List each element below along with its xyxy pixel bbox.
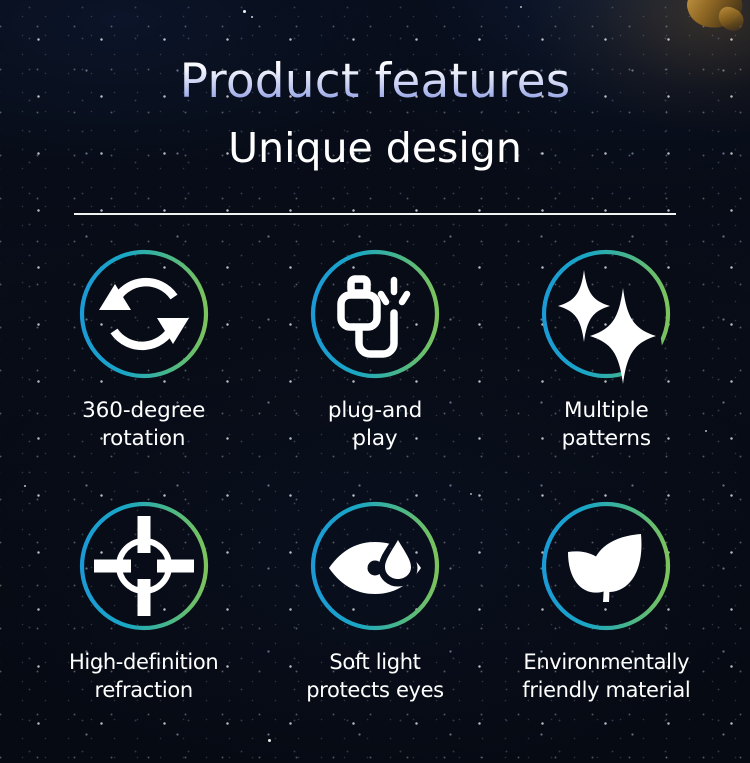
leaf-sprout-icon [540,500,672,632]
eye-teardrop-icon [309,500,441,632]
usb-plug-icon [309,248,441,380]
feature-label: Soft light protects eyes [306,649,444,704]
sparkle-stars-icon [540,248,672,380]
feature-label: Multiple patterns [562,397,651,454]
meteor-fleck-icon [683,0,748,35]
header-divider [74,213,676,215]
star-dot [243,10,246,13]
feature-item-soft-light[interactable]: Soft light protects eyes [259,500,490,752]
feature-icon-soft-light [309,500,441,632]
meteor-fleck-icon [715,4,747,34]
product-features-banner: Product features Unique design [0,0,750,763]
feature-item-multiple-patterns[interactable]: Multiple patterns [491,248,722,500]
rotate-360-icon [78,248,210,380]
feature-icon-eco-material [540,500,672,632]
feature-item-plug-and-play[interactable]: plug-and play [259,248,490,500]
star-dot [24,485,26,487]
feature-icon-multiple-patterns [540,248,672,380]
feature-icon-high-definition-refraction [78,500,210,632]
feature-label: Environmentally friendly material [522,649,690,704]
feature-icon-rotation [78,248,210,380]
feature-icon-plug-and-play [309,248,441,380]
feature-label: 360-degree rotation [82,397,205,454]
feature-item-rotation[interactable]: 360-degree rotation [28,248,259,500]
feature-label: plug-and play [328,397,422,454]
feature-label: High-definition refraction [69,649,218,704]
page-subtitle: Unique design [0,127,750,170]
feature-grid: 360-degree rotation [28,248,722,752]
feature-item-eco-material[interactable]: Environmentally friendly material [491,500,722,752]
feature-item-high-definition-refraction[interactable]: High-definition refraction [28,500,259,752]
star-dot [251,16,253,18]
page-title: Product features [0,57,750,106]
crosshair-target-icon [78,500,210,632]
star-dot [520,6,522,8]
